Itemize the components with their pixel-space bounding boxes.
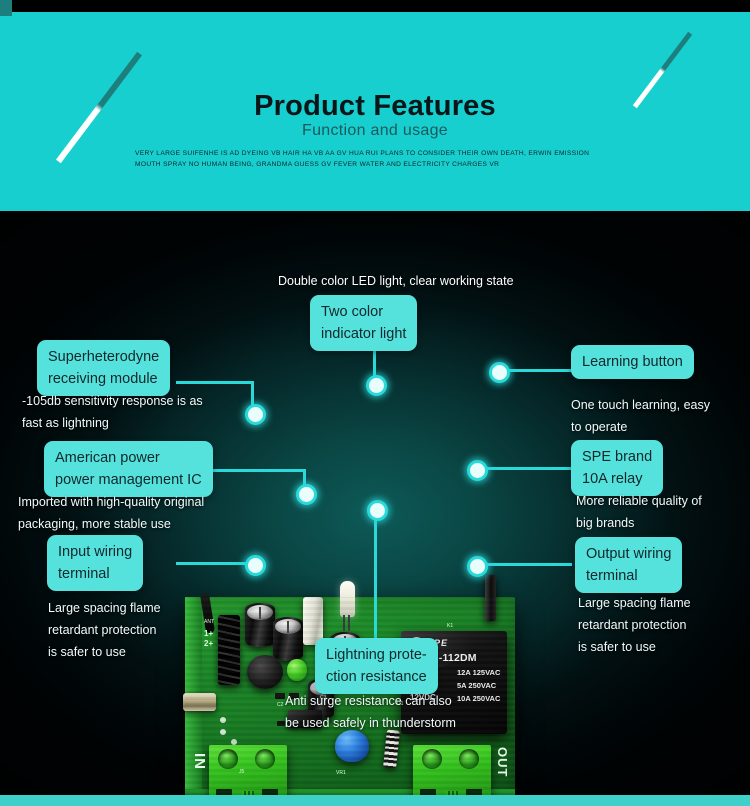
silk-pin1: 1+ <box>204 629 213 638</box>
smd-resistor-1 <box>275 693 285 699</box>
top-left-teal-nub <box>0 0 12 16</box>
connector-relay-h <box>474 467 572 470</box>
callout-american-power-title-1: American power <box>55 447 202 469</box>
callout-learning-button-title-1: Learning button <box>582 351 683 373</box>
connector-dot-lightning <box>367 500 388 521</box>
callout-led-note: Double color LED light, clear working st… <box>278 272 514 290</box>
callout-superheterodyne-desc-2: fast as lightning <box>22 412 203 434</box>
solder-pad-1 <box>220 717 226 723</box>
callout-relay-brand-desc-1: More reliable quality of <box>576 490 702 512</box>
output-terminal-ridge <box>446 791 458 795</box>
callout-lightning-desc: Anti surge resistance can also be used s… <box>285 690 456 734</box>
relay-rating-3: 10A 250VAC <box>457 694 500 703</box>
header-body-text: VERY LARGE SUIFENHE IS AD DYEING VB HAIR… <box>135 148 625 170</box>
callout-output-terminal-title-1: Output wiring <box>586 543 671 565</box>
callout-lightning-desc-2: be used safely in thunderstorm <box>285 712 456 734</box>
connector-lightning <box>374 507 377 639</box>
ceramic-capacitor-green <box>287 659 307 681</box>
callout-lightning-title-1: Lightning prote- <box>326 644 427 666</box>
header-banner: Product Features Function and usage VERY… <box>0 12 750 211</box>
output-terminal-screw-2 <box>459 749 479 769</box>
bicolor-led <box>340 581 355 617</box>
callout-superheterodyne-title-2: receiving module <box>48 368 159 390</box>
input-terminal-block <box>209 745 287 795</box>
callout-indicator-title-1: Two color <box>321 301 406 323</box>
connector-dot-input-terminal <box>245 555 266 576</box>
toroid-inductor <box>247 655 283 689</box>
silk-in-label: IN <box>191 753 208 770</box>
header-body-line-1: VERY LARGE SUIFENHE IS AD DYEING VB HAIR… <box>135 148 625 159</box>
callout-superheterodyne-title-1: Superheterodyne <box>48 346 159 368</box>
electrolytic-capacitor-2 <box>273 617 303 661</box>
callout-relay-brand-desc: More reliable quality of big brands <box>576 490 702 534</box>
callout-american-power-title-2: power management IC <box>55 469 202 491</box>
silk-out-label: OUT <box>495 747 510 777</box>
callout-relay-brand-title-2: 10A relay <box>582 468 652 490</box>
connector-output-h <box>474 563 572 566</box>
callout-learning-button: Learning button <box>571 345 694 379</box>
electrolytic-capacitor-1 <box>245 603 275 647</box>
fuse <box>183 693 216 711</box>
callout-output-terminal-desc: Large spacing flame retardant protection… <box>578 592 691 658</box>
callout-american-power: American power power management IC <box>44 441 213 497</box>
callout-input-terminal-desc-3: is safer to use <box>48 641 161 663</box>
connector-dot-output-terminal <box>467 556 488 577</box>
callout-learning-button-desc-2: to operate <box>571 416 710 438</box>
connector-input-terminal <box>176 562 252 565</box>
product-feature-infographic: Product Features Function and usage VERY… <box>0 0 750 806</box>
silk-j5: J5 <box>239 769 244 775</box>
silk-vr1: VR1 <box>336 770 346 776</box>
silk-c2: C2 <box>277 702 283 708</box>
silk-k1: K1 <box>447 623 453 629</box>
smd-resistor-3 <box>277 721 285 726</box>
callout-input-terminal-desc-1: Large spacing flame <box>48 597 161 619</box>
input-terminal-slots <box>213 789 283 795</box>
output-terminal-slots <box>417 789 487 795</box>
connector-superheterodyne-h <box>176 381 254 384</box>
bottom-teal-strip <box>0 795 750 806</box>
silk-pin2: 2+ <box>204 639 213 648</box>
board-bottom-edge <box>185 789 515 795</box>
header-body-line-2: MOUTH SPRAY NO HUMAN BEING, GRANDMA GUES… <box>135 159 625 170</box>
callout-input-terminal-title-2: terminal <box>58 563 132 585</box>
input-terminal-slot-2 <box>262 789 278 795</box>
learning-button-switch[interactable] <box>485 575 496 621</box>
output-terminal-slot-2 <box>466 789 482 795</box>
callout-input-terminal-desc: Large spacing flame retardant protection… <box>48 597 161 663</box>
callout-american-power-desc: Imported with high-quality original pack… <box>18 491 204 535</box>
callout-learning-button-desc-1: One touch learning, easy <box>571 394 710 416</box>
input-terminal-ridge <box>242 791 254 795</box>
callout-learning-button-desc: One touch learning, easy to operate <box>571 394 710 438</box>
callout-input-terminal-desc-2: retardant protection <box>48 619 161 641</box>
callout-relay-brand-desc-2: big brands <box>576 512 702 534</box>
callout-indicator-title-2: indicator light <box>321 323 406 345</box>
callout-american-power-desc-2: packaging, more stable use <box>18 513 204 535</box>
callout-output-terminal-desc-1: Large spacing flame <box>578 592 691 614</box>
board-left-edge <box>185 597 202 795</box>
callout-lightning-protection: Lightning prote- ction resistance <box>315 638 438 694</box>
led-legs <box>343 615 352 631</box>
page-title: Product Features <box>0 90 750 123</box>
surge-resistor <box>383 729 400 768</box>
callout-input-terminal: Input wiring terminal <box>47 535 143 591</box>
callout-indicator-light: Two color indicator light <box>310 295 417 351</box>
solder-pad-2 <box>220 729 226 735</box>
page-subtitle: Function and usage <box>0 122 750 140</box>
solder-pad-3 <box>231 739 237 745</box>
input-terminal-screw-2 <box>255 749 275 769</box>
callout-lightning-title-2: ction resistance <box>326 666 427 688</box>
antenna-wire <box>200 593 215 634</box>
top-black-bar <box>0 0 750 12</box>
callout-superheterodyne-desc-1: -105db sensitivity response is as <box>22 390 203 412</box>
output-terminal-slot-1 <box>420 789 436 795</box>
connector-dot-superheterodyne <box>245 404 266 425</box>
callout-superheterodyne-desc: -105db sensitivity response is as fast a… <box>22 390 203 434</box>
callout-american-power-desc-1: Imported with high-quality original <box>18 491 204 513</box>
callout-lightning-desc-1: Anti surge resistance can also <box>285 690 456 712</box>
callout-relay-brand: SPE brand 10A relay <box>571 440 663 496</box>
relay-rating-2: 5A 250VAC <box>457 681 496 690</box>
connector-dot-relay <box>467 460 488 481</box>
connector-dot-american-power <box>296 484 317 505</box>
input-terminal-screw-1 <box>218 749 238 769</box>
connector-dot-indicator <box>366 375 387 396</box>
lightning-protection-varistor <box>335 730 369 762</box>
callout-output-terminal-title-2: terminal <box>586 565 671 587</box>
callout-output-terminal: Output wiring terminal <box>575 537 682 593</box>
callout-input-terminal-title-1: Input wiring <box>58 541 132 563</box>
output-terminal-block <box>413 745 491 795</box>
silk-ant: ANT <box>204 619 214 625</box>
relay-rating-1: 12A 125VAC <box>457 668 500 677</box>
input-terminal-slot-1 <box>216 789 232 795</box>
callout-output-terminal-desc-2: retardant protection <box>578 614 691 636</box>
callout-output-terminal-desc-3: is safer to use <box>578 636 691 658</box>
connector-dot-learning-button <box>489 362 510 383</box>
output-terminal-screw-1 <box>422 749 442 769</box>
callout-relay-brand-title-1: SPE brand <box>582 446 652 468</box>
callout-superheterodyne: Superheterodyne receiving module <box>37 340 170 396</box>
inductor-coil <box>218 615 240 685</box>
